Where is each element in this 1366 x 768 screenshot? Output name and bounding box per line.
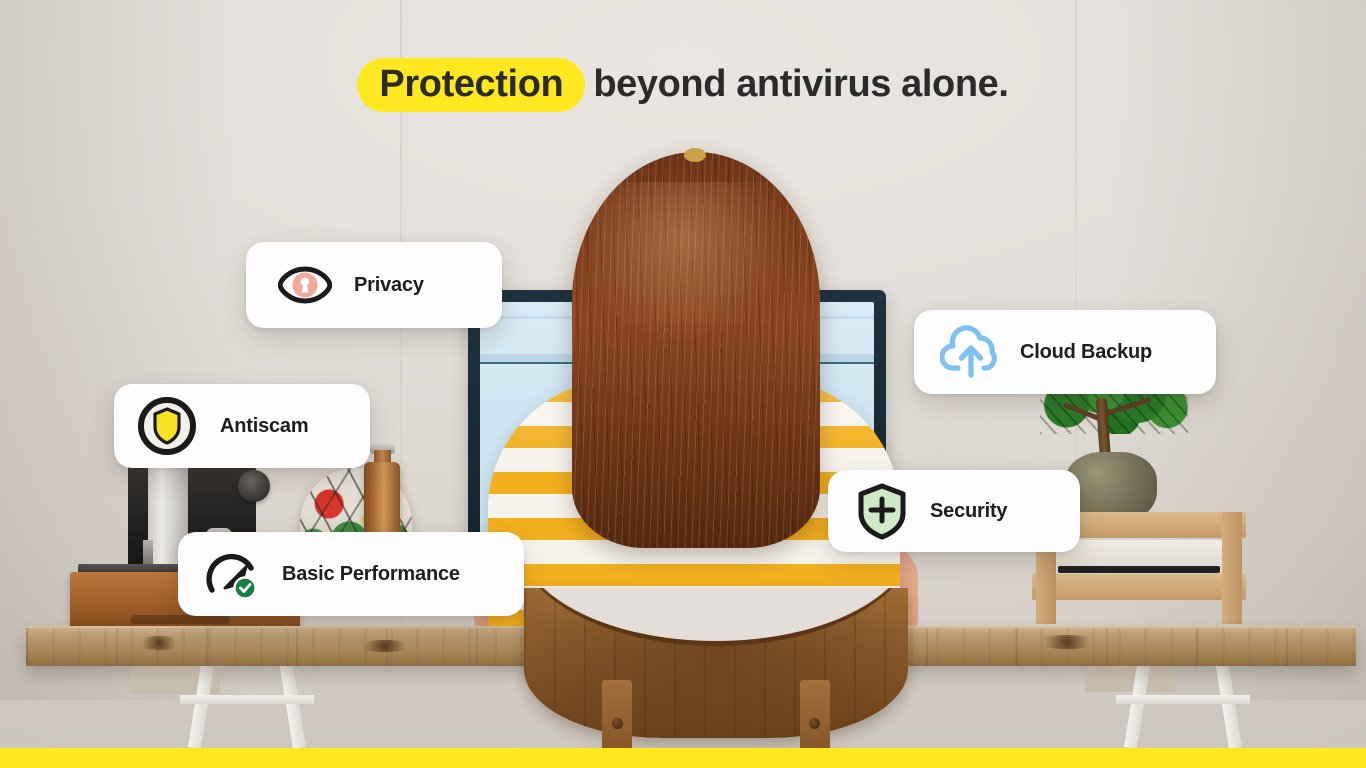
- crate-slat-bottom: [1032, 574, 1246, 600]
- feature-label: Antiscam: [220, 415, 308, 438]
- desk-knot: [136, 636, 182, 650]
- shield-plus-icon: [856, 482, 908, 540]
- feature-card-cloud-backup[interactable]: Cloud Backup: [914, 310, 1216, 394]
- chair-backrest: [524, 588, 908, 738]
- cloud-upload-icon: [940, 324, 1002, 380]
- sewing-machine-wheel: [238, 470, 270, 502]
- crate-inner-shadow: [1058, 566, 1220, 573]
- bottom-accent-bar: [0, 748, 1366, 768]
- feature-label: Basic Performance: [282, 563, 460, 586]
- wooden-chair: [524, 588, 908, 768]
- trestle-brace: [1116, 695, 1250, 704]
- desk-knot: [1036, 635, 1098, 649]
- feature-card-basic-performance[interactable]: Basic Performance: [178, 532, 524, 616]
- promo-banner: Protectionbeyond antivirus alone. Privac…: [0, 0, 1366, 768]
- person-at-desk: [476, 152, 912, 652]
- feature-card-privacy[interactable]: Privacy: [246, 242, 502, 328]
- chair-screw-left: [612, 718, 623, 729]
- feature-label: Cloud Backup: [1020, 341, 1152, 364]
- shield-circle-icon: [136, 395, 198, 457]
- feature-label: Security: [930, 500, 1007, 523]
- trestle-brace: [180, 695, 314, 704]
- crate-post-right: [1222, 512, 1242, 624]
- hair-top-tuft: [684, 148, 706, 162]
- speedometer-check-icon: [206, 550, 262, 598]
- chair-screw-right: [809, 718, 820, 729]
- feature-label: Privacy: [354, 274, 424, 297]
- headline-highlight: Protection: [357, 58, 585, 112]
- hair-sheen: [592, 182, 792, 342]
- long-hair: [572, 152, 820, 548]
- desk-knot: [356, 640, 414, 652]
- eye-keyhole-icon: [278, 265, 332, 305]
- feature-card-security[interactable]: Security: [828, 470, 1080, 552]
- headline-rest: beyond antivirus alone.: [587, 63, 1008, 105]
- page-title: Protectionbeyond antivirus alone.: [0, 58, 1366, 112]
- feature-card-antiscam[interactable]: Antiscam: [114, 384, 370, 468]
